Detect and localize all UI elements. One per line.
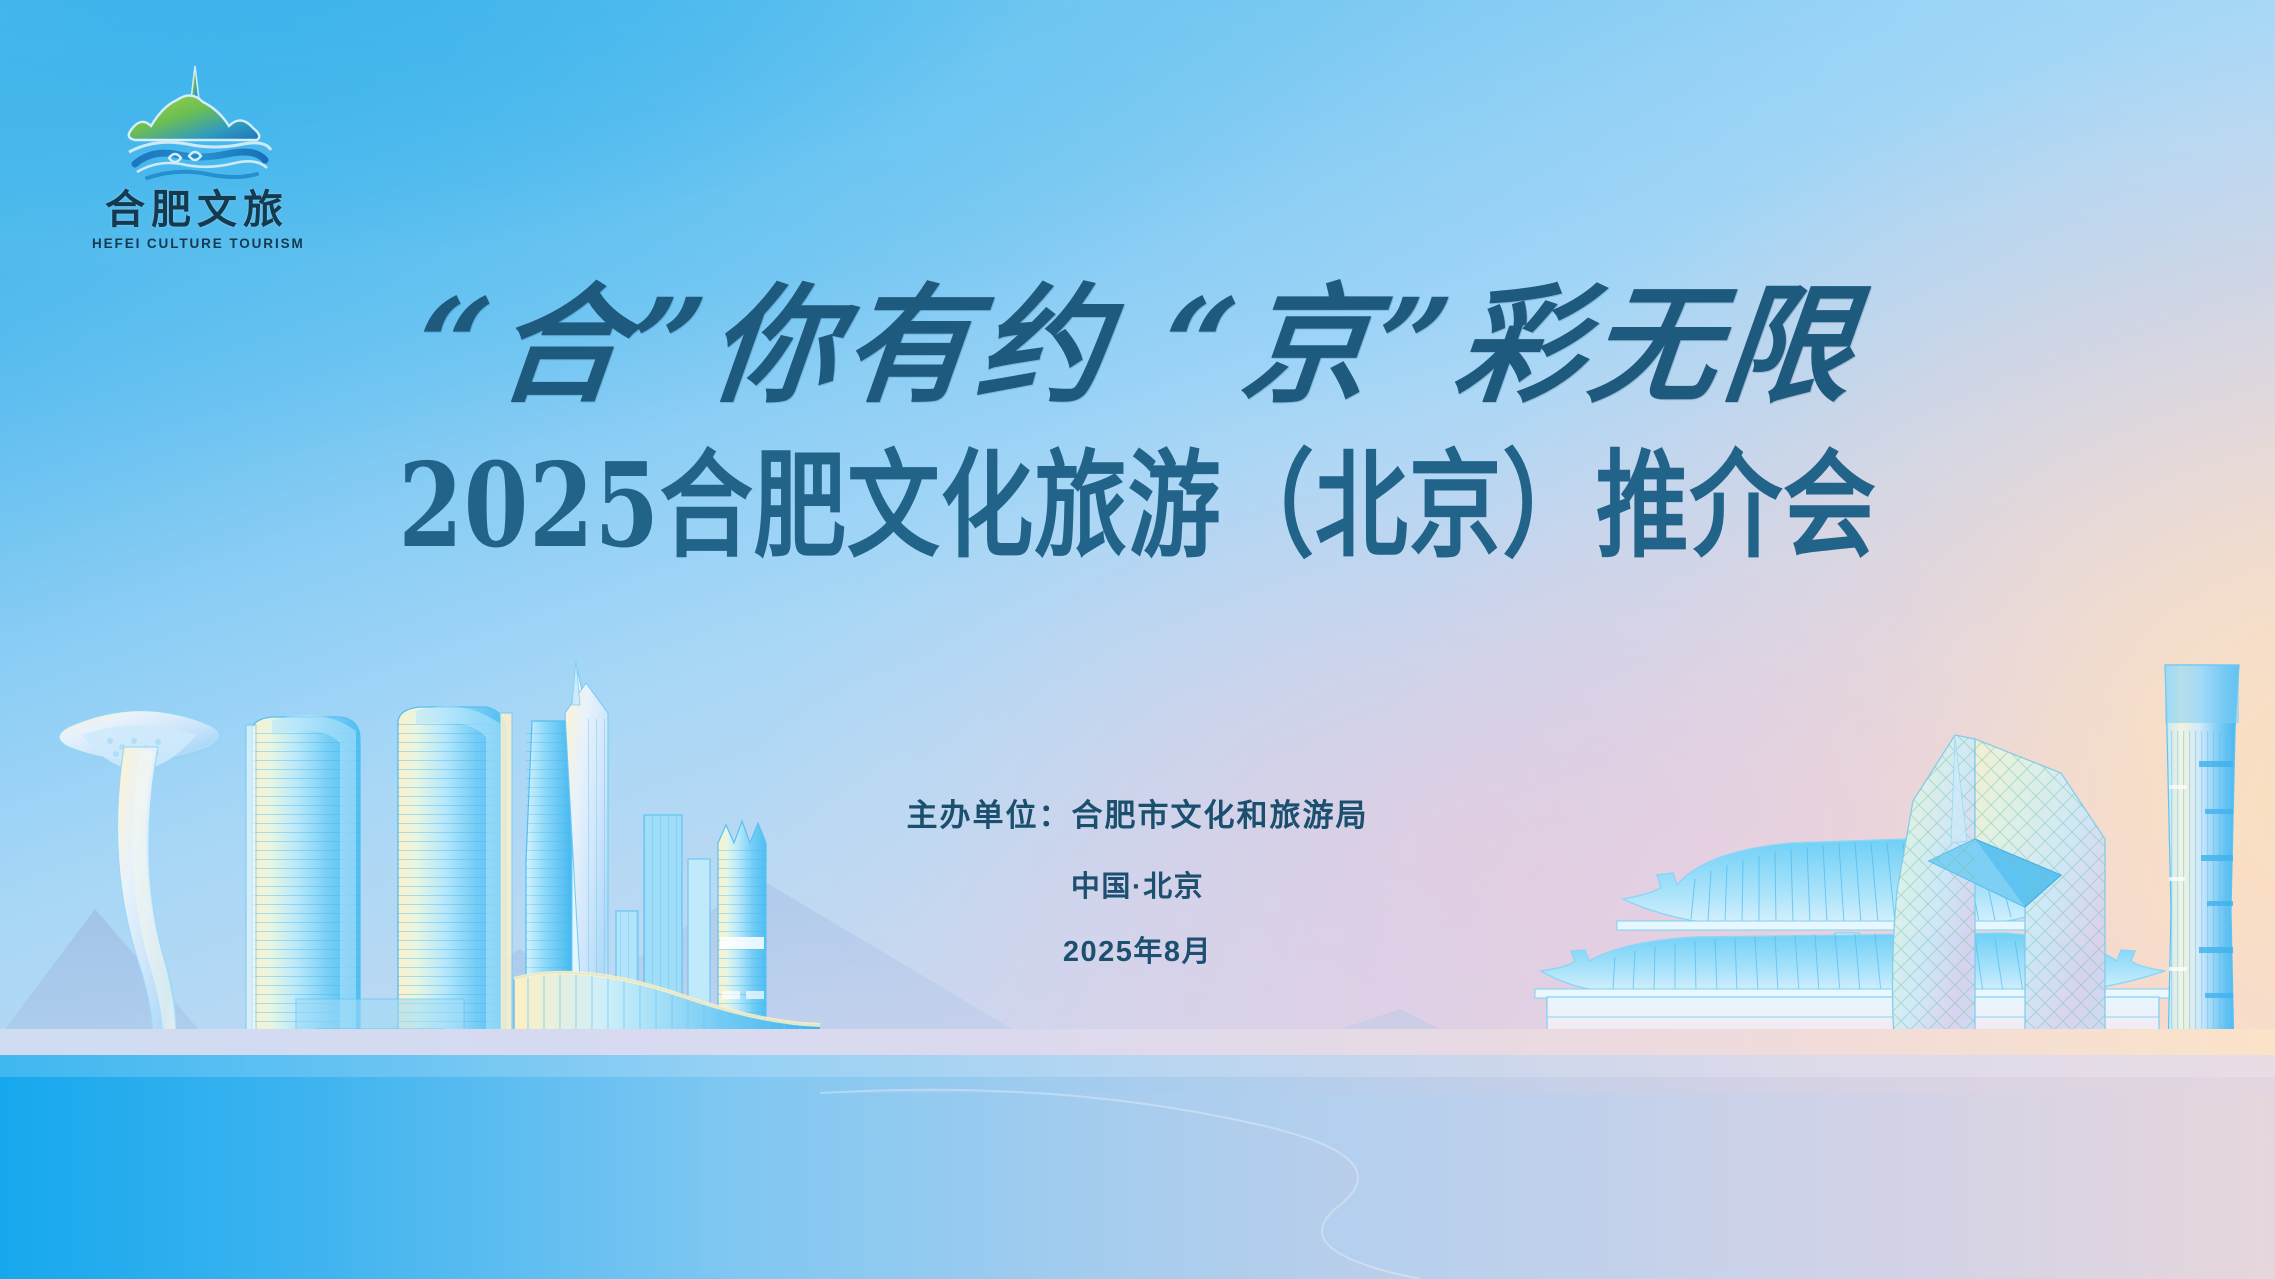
date-line: 2025年8月 [0,938,2275,967]
poster-canvas: 合肥文旅 HEFEI CULTURE TOURISM “合”你有约 “京”彩无限… [0,0,2275,1279]
main-title-calligraphy: “合”你有约 “京”彩无限 [0,272,2275,420]
organizer-line: 主办单位：合肥市文化和旅游局 [0,800,2275,831]
logo-chinese-name: 合肥文旅 [92,189,302,231]
title-block: “合”你有约 “京”彩无限 2025合肥文化旅游（北京）推介会 [0,272,2275,572]
event-subtitle: 2025合肥文化旅游（北京）推介会 [228,442,2048,572]
location-line: 中国·北京 [0,873,2275,902]
hefei-culture-tourism-logo[interactable]: 合肥文旅 HEFEI CULTURE TOURISM [92,60,302,251]
water-and-ground [0,1029,2275,1279]
event-info-block: 主办单位：合肥市文化和旅游局 中国·北京 2025年8月 [0,800,2275,967]
mountain-and-river-icon [107,60,287,185]
logo-english-name: HEFEI CULTURE TOURISM [92,236,302,251]
